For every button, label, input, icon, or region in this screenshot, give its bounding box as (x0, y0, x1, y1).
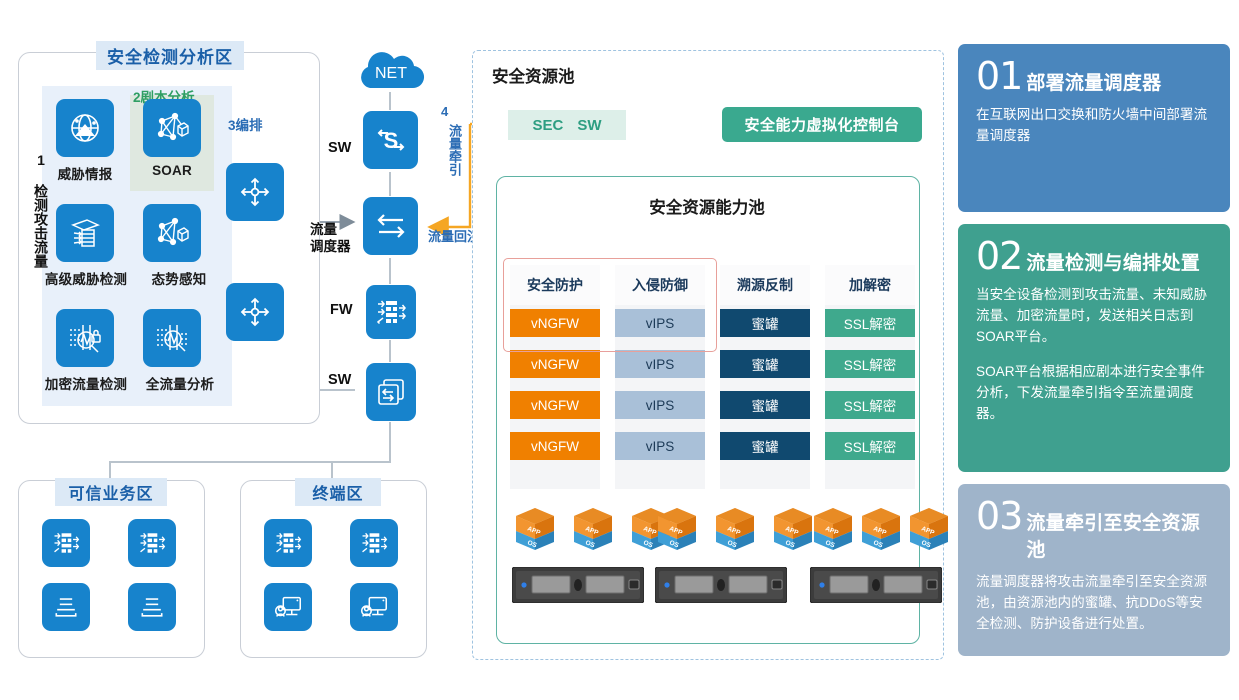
security-resource-pool-title: 安全资源池 (492, 63, 575, 87)
capability-cell[interactable]: 蜜罐 (720, 432, 810, 460)
card-paragraph: 当安全设备检测到攻击流量、未知威胁流量、加密流量时，发送相关日志到SOAR平台。 (976, 284, 1212, 347)
traffic-diverter-icon[interactable] (226, 163, 284, 221)
column-header: 溯源反制 (720, 265, 810, 305)
trusted-business-zone-title: 可信业务区 (55, 478, 167, 506)
flow-label-detect-attack-traffic: 1 检测攻击流量 (26, 152, 48, 268)
virtualization-console-button[interactable]: 安全能力虚拟化控制台 (722, 107, 922, 142)
detection-item-label-2: 高级威胁检测 (36, 268, 136, 288)
switch-s-icon[interactable]: S (363, 111, 418, 169)
capability-column-1: 入侵防御 vIPS vIPS vIPS vIPS (615, 265, 705, 489)
capability-cell[interactable]: 蜜罐 (720, 350, 810, 378)
container-cube: APP OS (810, 505, 856, 555)
capability-cell[interactable]: vIPS (615, 391, 705, 419)
capability-cell[interactable]: vNGFW (510, 350, 600, 378)
card-number: 02 (976, 238, 1022, 274)
firewall-icon[interactable] (366, 285, 416, 339)
card-title: 流量检测与编排处置 (1026, 248, 1200, 275)
container-cube: APP OS (512, 505, 558, 555)
pull-step-number: 4 (441, 104, 448, 119)
terminal-user-icon[interactable] (350, 583, 398, 631)
diagram-canvas: 安全检测分析区 1 检测攻击流量 2剧本分析 3编排 威胁情报 SOAR (0, 0, 1239, 700)
container-cube: APP OS (858, 505, 904, 555)
firewall-icon[interactable] (264, 519, 312, 567)
card-number: 03 (976, 498, 1022, 534)
container-cube: APP OS (654, 505, 700, 555)
card-paragraph: 流量调度器将攻击流量牵引至安全资源池，由资源池内的蜜罐、抗DDoS等安全检测、防… (976, 571, 1212, 634)
card-paragraph: SOAR平台根据相应剧本进行安全事件分析，下发流量牵引指令至流量调度器。 (976, 361, 1212, 424)
capability-cell[interactable]: vNGFW (510, 391, 600, 419)
detection-item-label-0: 威胁情报 (46, 163, 124, 183)
server-doc-icon[interactable] (42, 583, 90, 631)
encrypted-traffic-icon[interactable] (56, 309, 114, 367)
physical-server (512, 567, 630, 603)
full-traffic-icon[interactable] (143, 309, 201, 367)
card-paragraph: 在互联网出口交换和防火墙中间部署流量调度器 (976, 104, 1212, 146)
capability-cell[interactable]: 蜜罐 (720, 391, 810, 419)
detection-item-label-5: 全流量分析 (136, 373, 224, 393)
column-header: 入侵防御 (615, 265, 705, 305)
sec-sw-node[interactable]: SEC SW (508, 110, 626, 140)
sw-label-top: SW (328, 140, 351, 156)
orchestration-label: 3编排 (228, 114, 263, 134)
traffic-scheduler-icon[interactable] (363, 197, 418, 255)
sw-label: SW (577, 117, 601, 134)
capability-column-2: 溯源反制 蜜罐 蜜罐 蜜罐 蜜罐 (720, 265, 810, 489)
card-title: 部署流量调度器 (1026, 68, 1161, 95)
info-card-03: 03 流量牵引至安全资源池 流量调度器将攻击流量牵引至安全资源池，由资源池内的蜜… (958, 484, 1230, 656)
traffic-scheduler-label: 流量调度器 (310, 222, 351, 256)
situation-awareness-icon[interactable] (143, 204, 201, 262)
column-header: 安全防护 (510, 265, 600, 305)
container-cube: APP OS (906, 505, 952, 555)
sec-label: SEC (532, 117, 563, 134)
capability-cell[interactable]: vIPS (615, 309, 705, 337)
detection-item-label-3: 态势感知 (140, 268, 218, 288)
card-title: 流量牵引至安全资源池 (1026, 508, 1212, 562)
terminal-zone-title: 终端区 (295, 478, 381, 506)
detection-zone-title: 安全检测分析区 (96, 41, 244, 70)
firewall-icon[interactable] (350, 519, 398, 567)
detection-item-label-4: 加密流量检测 (32, 373, 140, 393)
advanced-threat-icon[interactable] (56, 204, 114, 262)
detection-item-label-1: SOAR (133, 163, 211, 178)
capability-column-0: 安全防护 vNGFW vNGFW vNGFW vNGFW (510, 265, 600, 489)
terminal-user-icon[interactable] (264, 583, 312, 631)
container-cube: APP OS (712, 505, 758, 555)
server-doc-icon[interactable] (128, 583, 176, 631)
capability-cell[interactable]: SSL解密 (825, 391, 915, 419)
svg-text:S: S (383, 128, 398, 153)
firewall-icon[interactable] (42, 519, 90, 567)
card-number: 01 (976, 58, 1022, 94)
capability-cell[interactable]: vNGFW (510, 432, 600, 460)
sw-label-bottom: SW (328, 372, 351, 388)
capability-cell[interactable]: vNGFW (510, 309, 600, 337)
net-cloud-label: NET (375, 65, 407, 82)
info-card-01: 01 部署流量调度器 在互联网出口交换和防火墙中间部署流量调度器 (958, 44, 1230, 212)
info-card-02: 02 流量检测与编排处置 当安全设备检测到攻击流量、未知威胁流量、加密流量时，发… (958, 224, 1230, 472)
capability-pool-title: 安全资源能力池 (496, 194, 918, 218)
trusted-business-zone-panel (18, 480, 205, 658)
traffic-diverter-icon[interactable] (226, 283, 284, 341)
column-header: 加解密 (825, 265, 915, 305)
physical-server (810, 567, 928, 603)
firewall-icon[interactable] (128, 519, 176, 567)
soar-graph-icon[interactable] (143, 99, 201, 157)
capability-cell[interactable]: SSL解密 (825, 350, 915, 378)
capability-cell[interactable]: SSL解密 (825, 309, 915, 337)
terminal-zone-panel (240, 480, 427, 658)
switch-stack-icon[interactable] (366, 363, 416, 421)
fw-label: FW (330, 302, 353, 318)
threat-intel-icon[interactable] (56, 99, 114, 157)
capability-column-3: 加解密 SSL解密 SSL解密 SSL解密 SSL解密 (825, 265, 915, 489)
physical-server (655, 567, 773, 603)
capability-cell[interactable]: vIPS (615, 350, 705, 378)
capability-cell[interactable]: 蜜罐 (720, 309, 810, 337)
container-cube: APP OS (570, 505, 616, 555)
capability-cell[interactable]: vIPS (615, 432, 705, 460)
net-cloud-icon: NET (352, 48, 430, 94)
capability-cell[interactable]: SSL解密 (825, 432, 915, 460)
traffic-pull-label: 流量牵引 (443, 124, 461, 176)
